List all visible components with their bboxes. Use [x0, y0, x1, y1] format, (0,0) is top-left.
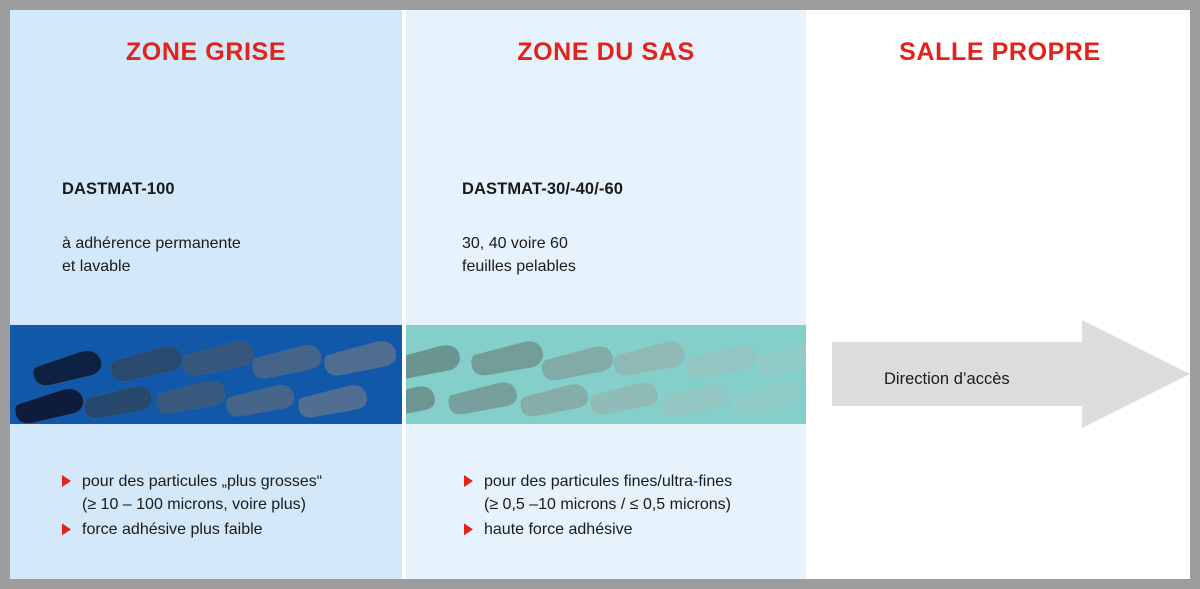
product-description-zone-grise: à adhérence permanente et lavable: [62, 233, 241, 278]
product-block-zone-grise: DASTMAT-100 à adhérence permanente et la…: [62, 180, 241, 278]
bullet-text: pour des particules fines/ultra-fines (≥…: [484, 470, 732, 516]
direction-arrow: Direction d’accès: [832, 320, 1190, 428]
bullet-item: force adhésive plus faible: [62, 518, 322, 541]
direction-arrow-label: Direction d’accès: [884, 370, 1010, 389]
product-name-dastmat-30-40-60: DASTMAT-30/-40/-60: [462, 180, 623, 199]
zone-title-zone-du-sas: ZONE DU SAS: [406, 38, 806, 67]
footprints-blue-svg: [10, 325, 402, 424]
triangle-bullet-icon: [464, 475, 473, 487]
bullet-text: force adhésive plus faible: [82, 518, 263, 541]
mat-band-blue: [10, 325, 402, 424]
triangle-bullet-icon: [464, 523, 473, 535]
triangle-bullet-icon: [62, 475, 71, 487]
diagram-canvas: ZONE GRISE DASTMAT-100 à adhérence perma…: [10, 10, 1190, 579]
footprints-teal-svg: [406, 325, 806, 424]
zone-title-salle-propre: SALLE PROPRE: [810, 38, 1190, 67]
triangle-bullet-icon: [62, 523, 71, 535]
product-block-zone-du-sas: DASTMAT-30/-40/-60 30, 40 voire 60 feuil…: [462, 180, 623, 278]
bullet-text: pour des particules „plus grosses“ (≥ 10…: [82, 470, 322, 516]
bullet-text: haute force adhésive: [484, 518, 633, 541]
bullet-list-zone-du-sas: pour des particules fines/ultra-fines (≥…: [464, 470, 732, 544]
bullet-item: pour des particules fines/ultra-fines (≥…: [464, 470, 732, 516]
bullet-item: haute force adhésive: [464, 518, 732, 541]
bullet-item: pour des particules „plus grosses“ (≥ 10…: [62, 470, 322, 516]
zone-column-salle-propre: SALLE PROPRE Direction d’accès: [810, 10, 1190, 579]
zone-column-zone-du-sas: ZONE DU SAS DASTMAT-30/-40/-60 30, 40 vo…: [406, 10, 806, 579]
diagram-frame: ZONE GRISE DASTMAT-100 à adhérence perma…: [0, 0, 1200, 589]
product-description-zone-du-sas: 30, 40 voire 60 feuilles pelables: [462, 233, 623, 278]
zone-title-zone-grise: ZONE GRISE: [10, 38, 402, 67]
mat-band-teal: [406, 325, 806, 424]
zone-column-zone-grise: ZONE GRISE DASTMAT-100 à adhérence perma…: [10, 10, 402, 579]
product-name-dastmat-100: DASTMAT-100: [62, 180, 241, 199]
bullet-list-zone-grise: pour des particules „plus grosses“ (≥ 10…: [62, 470, 322, 544]
